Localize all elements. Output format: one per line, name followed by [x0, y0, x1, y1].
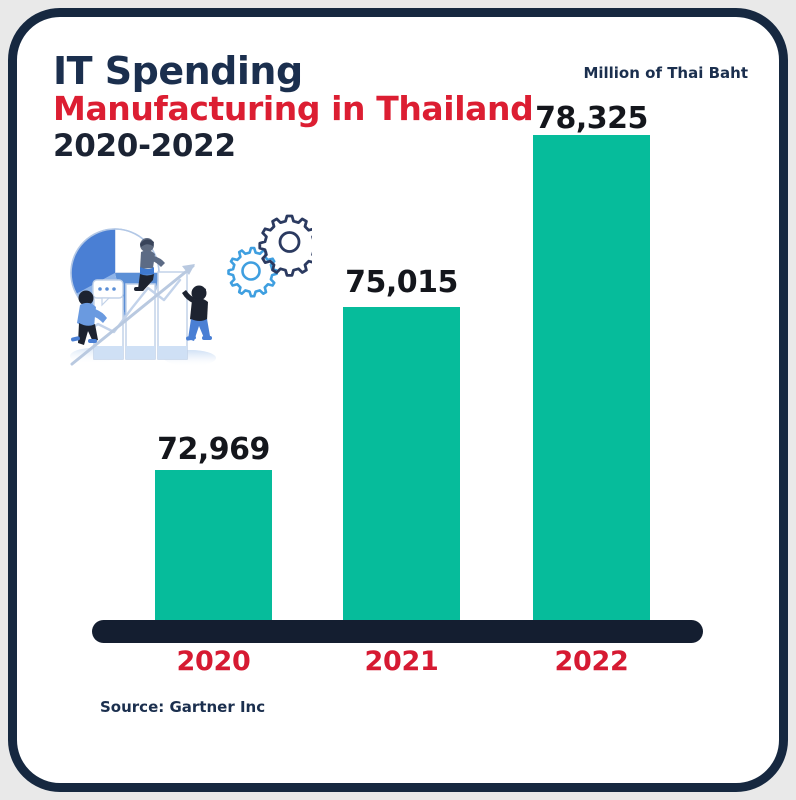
- title-block: IT Spending Manufacturing in Thailand 20…: [53, 52, 573, 165]
- source-note: Source: Gartner Inc: [100, 698, 265, 716]
- infographic-container: IT Spending Manufacturing in Thailand 20…: [0, 0, 796, 800]
- page-title-primary: IT Spending: [53, 52, 573, 90]
- bar-value-label-2020: 72,969: [133, 432, 294, 467]
- bar-2021: [343, 307, 460, 623]
- x-axis-label-2022: 2022: [511, 646, 672, 677]
- x-axis-label-2021: 2021: [321, 646, 482, 677]
- infographic-canvas: IT Spending Manufacturing in Thailand 20…: [0, 0, 796, 800]
- unit-label: Million of Thai Baht: [583, 64, 748, 82]
- page-title-years: 2020-2022: [53, 129, 573, 165]
- axis-baseline: [92, 620, 703, 643]
- bar-2020: [155, 470, 272, 623]
- gear-blue-icon: [229, 248, 277, 296]
- page-title-secondary: Manufacturing in Thailand: [53, 90, 573, 129]
- bar-2022: [533, 135, 650, 623]
- business-analytics-illustration: [62, 196, 312, 386]
- bar-value-label-2021: 75,015: [321, 265, 482, 300]
- x-axis-label-2020: 2020: [133, 646, 294, 677]
- gear-navy-icon: [260, 216, 312, 275]
